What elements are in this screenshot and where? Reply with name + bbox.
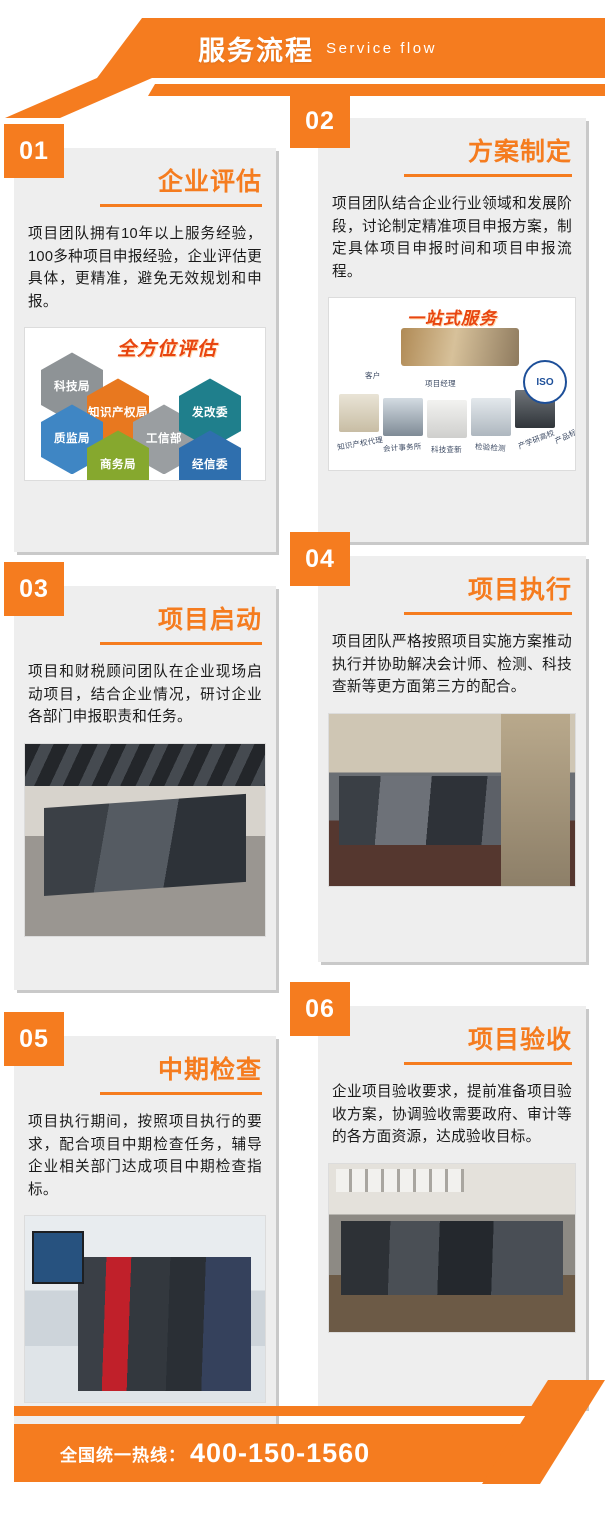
page-footer: 全国统一热线： 400-150-1560 xyxy=(0,1406,605,1498)
card-03-number-badge: 03 xyxy=(4,562,64,616)
card-01-number-badge: 01 xyxy=(4,124,64,178)
card-02-body: 项目团队结合企业行业领域和发展阶段，讨论制定精准项目申报方案，制定具体项目申报时… xyxy=(318,177,586,297)
card-04-number-badge: 04 xyxy=(290,532,350,586)
card-05-body: 项目执行期间，按照项目执行的要求，配合项目中期检查任务，辅导企业相关部门达成项目… xyxy=(14,1095,276,1215)
one-stop-service-hub-photo xyxy=(401,328,519,366)
card-04-photo-meeting-laptops xyxy=(328,713,576,887)
hotline-label: 全国统一热线： xyxy=(60,1441,186,1466)
card-03-photo-conference-room xyxy=(24,743,266,937)
card-06-photo-acceptance-meeting xyxy=(328,1163,576,1333)
page-title: 服务流程 Service flow xyxy=(0,18,605,78)
card-02-number-badge: 02 xyxy=(290,94,350,148)
oss-iso-seal-icon: ISO xyxy=(523,360,567,404)
oss-node-tech-novelty-photo xyxy=(427,400,467,438)
oss-node-inspection-photo xyxy=(471,398,511,436)
card-05-number-badge: 05 xyxy=(4,1012,64,1066)
oss-node-ip-agency-photo xyxy=(339,394,379,432)
oss-label-customer: 客户 xyxy=(365,370,380,381)
process-card-03[interactable]: 03 项目启动 项目和财税顾问团队在企业现场启动项目，结合企业情况，研讨企业各部… xyxy=(14,586,276,990)
card-06-body: 企业项目验收要求，提前准备项目验收方案，协调验收需要政府、审计等的各方面资源，达… xyxy=(318,1065,586,1163)
card-06-title: 项目验收 xyxy=(318,1006,586,1056)
process-card-02[interactable]: 02 方案制定 项目团队结合企业行业领域和发展阶段，讨论制定精准项目申报方案，制… xyxy=(318,118,586,542)
oss-label-tech-novelty: 科技查新 xyxy=(431,444,462,455)
process-card-06[interactable]: 06 项目验收 企业项目验收要求，提前准备项目验收方案，协调验收需要政府、审计等… xyxy=(318,1006,586,1408)
process-card-01[interactable]: 01 企业评估 项目团队拥有10年以上服务经验，100多种项目申报经验，企业评估… xyxy=(14,148,276,552)
process-card-04[interactable]: 04 项目执行 项目团队严格按照项目实施方案推动执行并协助解决会计师、检测、科技… xyxy=(318,556,586,962)
oss-label-ip-agency: 知识产权代理 xyxy=(336,435,383,454)
process-card-05[interactable]: 05 中期检查 项目执行期间，按照项目执行的要求，配合项目中期检查任务，辅导企业… xyxy=(14,1036,276,1438)
card-06-number-badge: 06 xyxy=(290,982,350,1036)
card-03-body: 项目和财税顾问团队在企业现场启动项目，结合企业情况，研讨企业各部门申报职责和任务… xyxy=(14,645,276,743)
hex-diagram: 全方位评估 科技局 知识产权局 质监局 工信部 发改委 商务局 经信委 xyxy=(24,327,266,481)
page-title-cn: 服务流程 xyxy=(198,29,314,68)
card-04-title: 项目执行 xyxy=(318,556,586,606)
oss-label-project-manager: 项目经理 xyxy=(425,378,456,389)
page-title-en: Service flow xyxy=(326,40,437,57)
hotline-number[interactable]: 400-150-1560 xyxy=(190,1438,370,1469)
oss-node-accounting-photo xyxy=(383,398,423,436)
one-stop-service-title: 一站式服务 xyxy=(329,304,575,329)
oss-label-product-standard: 产品标准规范 xyxy=(553,417,576,447)
card-05-photo-lobby-group xyxy=(24,1215,266,1403)
oss-label-university: 产学研高校 xyxy=(516,428,556,453)
one-stop-service-diagram: 一站式服务 客户 项目经理 ISO 知识产权代理 会计事务所 科技查新 检验检测… xyxy=(328,297,576,471)
hex-diagram-title: 全方位评估 xyxy=(117,334,217,361)
oss-label-inspection: 检验检测 xyxy=(475,441,507,454)
card-04-body: 项目团队严格按照项目实施方案推动执行并协助解决会计师、检测、科技查新等更方面第三… xyxy=(318,615,586,713)
hotline-block: 全国统一热线： 400-150-1560 xyxy=(14,1424,574,1482)
card-02-title: 方案制定 xyxy=(318,118,586,168)
footer-thin-stripe xyxy=(14,1406,574,1416)
oss-label-accounting: 会计事务所 xyxy=(383,441,422,455)
card-01-body: 项目团队拥有10年以上服务经验，100多种项目申报经验，企业评估更具体，更精准，… xyxy=(14,207,276,327)
